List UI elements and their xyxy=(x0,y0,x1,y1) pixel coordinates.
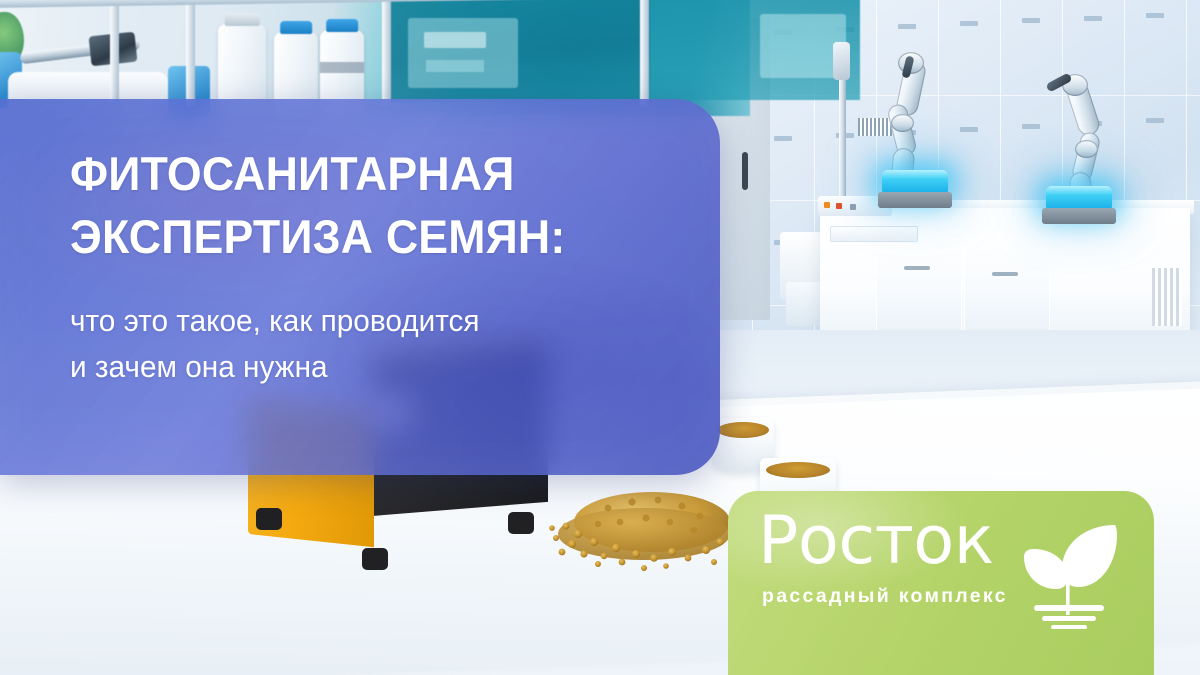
bowl-seed-contents xyxy=(717,422,769,438)
wall-slot xyxy=(960,21,978,26)
brand-logo-panel[interactable]: Росток рассадный комплекс xyxy=(728,491,1154,675)
headline-panel: ФИТОСАНИТАРНАЯ ЭКСПЕРТИЗА СЕМЯН: что это… xyxy=(0,99,720,475)
wall-slot xyxy=(774,136,792,141)
counter-vent-grille xyxy=(1152,268,1182,326)
cabinet-handle xyxy=(904,266,930,270)
shelf-post xyxy=(382,0,391,106)
robot-base-plate xyxy=(1042,208,1116,224)
bottle-cap xyxy=(280,21,312,34)
logo-row: Росток рассадный комплекс xyxy=(756,507,1136,634)
bowl-seed-contents xyxy=(766,462,830,478)
counter-cabinet-door xyxy=(964,238,1050,332)
wall-slot xyxy=(1022,124,1040,129)
machine-foot xyxy=(362,548,388,570)
wall-slot xyxy=(1146,13,1164,18)
wall-slot xyxy=(1084,16,1102,21)
machine-foot xyxy=(256,508,282,530)
wall-slot xyxy=(1022,18,1040,23)
shelf-post xyxy=(640,0,649,106)
brand-tagline: рассадный комплекс xyxy=(762,585,1008,608)
bottle-cap xyxy=(326,19,358,32)
wall-slot xyxy=(1146,118,1164,123)
robotic-arm-right xyxy=(1042,128,1134,224)
status-led xyxy=(824,202,830,208)
sprout-icon xyxy=(1018,517,1122,634)
page-title: ФИТОСАНИТАРНАЯ ЭКСПЕРТИЗА СЕМЯН: xyxy=(70,143,646,268)
machine-foot xyxy=(508,512,534,534)
status-led xyxy=(850,204,856,210)
counter-cabinet-door xyxy=(876,238,962,332)
lab-door-handle xyxy=(742,152,748,190)
page-subtitle: что это такое, как проводится и зачем он… xyxy=(70,298,652,390)
shelf-post xyxy=(110,0,119,106)
robot-joint xyxy=(1075,140,1098,158)
promo-banner: ФИТОСАНИТАРНАЯ ЭКСПЕРТИЗА СЕМЯН: что это… xyxy=(0,0,1200,675)
support-pole-head xyxy=(833,42,850,80)
robot-base-plate xyxy=(878,192,952,208)
glass-cabinet-left xyxy=(390,0,650,102)
instrument-label-strip xyxy=(830,226,918,242)
cabinet-handle xyxy=(992,272,1018,276)
status-led xyxy=(836,203,842,209)
bottle-label-band xyxy=(320,62,364,73)
glass-cabinet-right xyxy=(650,0,860,100)
bottle-cap xyxy=(225,13,260,26)
headline-content: ФИТОСАНИТАРНАЯ ЭКСПЕРТИЗА СЕМЯН: что это… xyxy=(0,99,720,390)
wall-slot xyxy=(898,24,916,29)
brand-wordmark: Росток xyxy=(756,507,1008,574)
robot-joint xyxy=(891,114,914,132)
shelf-post xyxy=(186,0,195,106)
seed-pile-graphic xyxy=(548,478,748,588)
logo-text-column: Росток рассадный комплекс xyxy=(756,507,1008,608)
seed-pile xyxy=(548,478,728,574)
robotic-arm-left xyxy=(878,118,970,208)
